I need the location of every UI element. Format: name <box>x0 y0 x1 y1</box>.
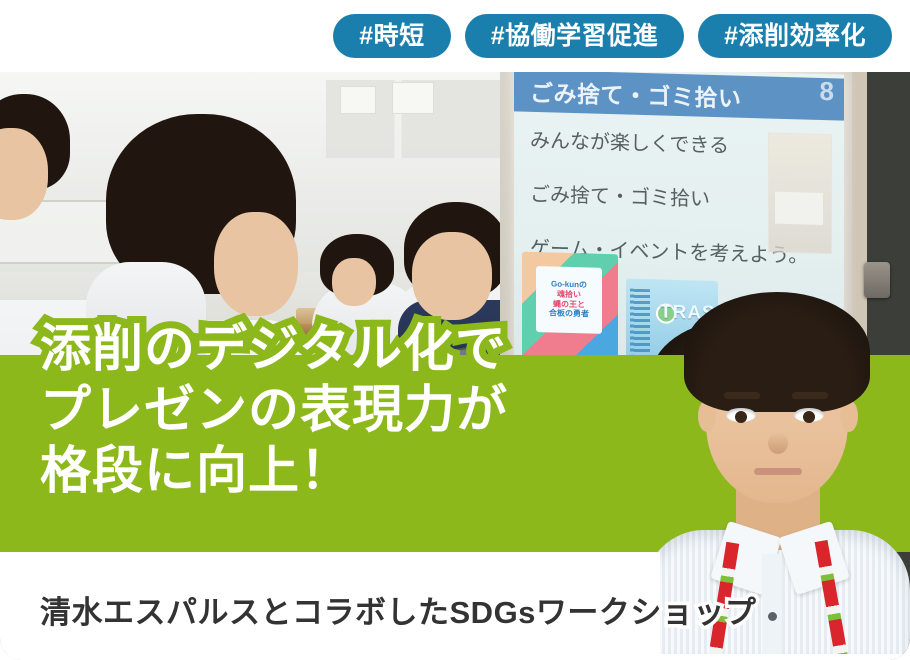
wall-note <box>340 86 376 114</box>
slide-page-number: 8 <box>820 76 834 107</box>
instructor-eye-left <box>726 408 756 422</box>
tag-row: #時短 #協働学習促進 #添削効率化 <box>0 0 910 72</box>
headline: 添削のデジタル化で プレゼンの表現力が 格段に向上！ <box>40 318 508 502</box>
instructor-shirt-button <box>768 612 777 621</box>
poster-line: 合板の勇者 <box>549 310 589 320</box>
poster-go-kun: Go-kunの 魂拾い 蝿の王と 合板の勇者 <box>522 252 618 367</box>
tag-label: #時短 <box>359 24 424 49</box>
instructor-eye-right <box>794 408 824 422</box>
headline-line-3: 格段に向上！ <box>40 440 508 501</box>
slide-photo-thumbnail <box>768 132 832 254</box>
tag-jitan[interactable]: #時短 <box>333 14 450 58</box>
card-bottom-edge <box>0 654 910 660</box>
tag-label: #協働学習促進 <box>491 24 658 49</box>
headline-line-2: プレゼンの表現力が <box>40 379 508 440</box>
tag-kyodo-gakushu[interactable]: #協働学習促進 <box>465 14 684 58</box>
caption-text: 清水エスパルスとコラボしたSDGsワークショップ <box>40 587 756 632</box>
headline-line-1: 添削のデジタル化で <box>40 318 508 379</box>
slide-line: みんなが楽しくできる <box>530 124 778 160</box>
instructor-pupil-right <box>803 411 815 423</box>
instructor-pupil-left <box>735 411 747 423</box>
poster-go-kun-text: Go-kunの 魂拾い 蝿の王と 合板の勇者 <box>536 266 602 334</box>
instructor-shirt-placket <box>762 554 782 660</box>
instructor-brow-right <box>792 392 828 399</box>
instructor-hair <box>684 292 870 412</box>
instructor-mouth <box>754 468 802 475</box>
tag-label: #添削効率化 <box>724 24 866 49</box>
tag-tensaku-koritsu[interactable]: #添削効率化 <box>698 14 892 58</box>
poster-line: 魂拾い <box>557 290 581 299</box>
slide-line: ごみ捨て・ゴミ拾い <box>530 178 778 214</box>
instructor-brow-left <box>724 392 760 399</box>
wall-note <box>392 82 434 114</box>
instructor-nose <box>768 432 788 454</box>
slide-title-bar: ごみ捨て・ゴミ拾い <box>514 72 844 121</box>
slide-thumbnail-caption <box>775 192 823 225</box>
hero-card: #時短 #協働学習促進 #添削効率化 <box>0 0 910 660</box>
slide-title: ごみ捨て・ゴミ拾い <box>514 73 742 113</box>
